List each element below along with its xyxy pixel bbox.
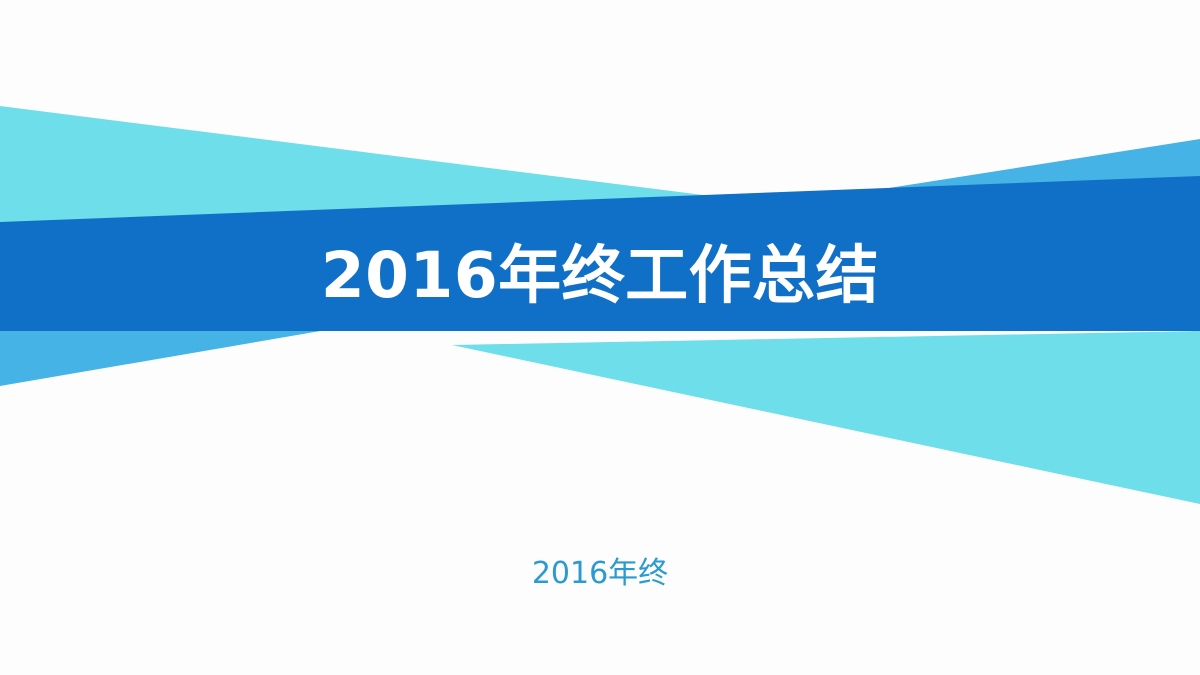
subtitle: 2016年终 — [0, 556, 1200, 592]
subtitle-container: 2016年终 — [0, 556, 1200, 592]
title-slide: 2016年终工作总结 2016年终 — [0, 0, 1200, 675]
cyan-bottom-right-wedge-shape — [452, 331, 1200, 504]
